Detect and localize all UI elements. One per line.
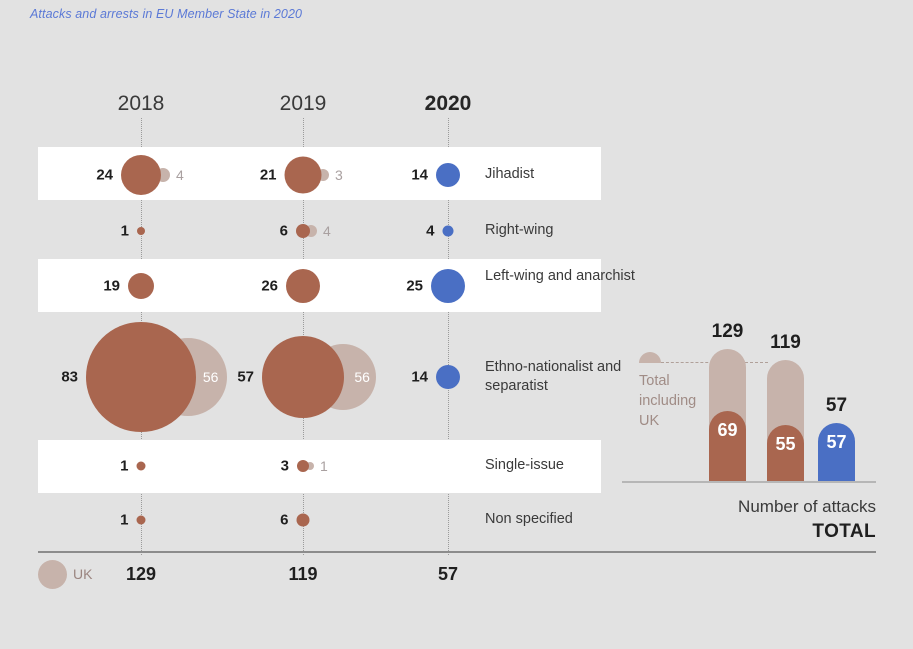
value-label-right-wing-2019: 6 — [280, 223, 288, 240]
bubble-jihadist-2019 — [285, 157, 322, 194]
bubble-single-issue-2018 — [137, 462, 146, 471]
bar-total-label-2019: 119 — [770, 332, 801, 354]
bubble-jihadist-2018 — [121, 155, 161, 195]
value-label-ethno-nationalist-2020: 14 — [411, 369, 428, 386]
category-label-non: Non specified — [485, 510, 665, 529]
bubble-single-issue-2019 — [297, 460, 309, 472]
bubble-non-2019 — [297, 514, 310, 527]
page-title: Attacks and arrests in EU Member State i… — [30, 7, 302, 21]
total-2020: 57 — [438, 564, 458, 585]
bar-chart-baseline — [622, 481, 876, 483]
value-label-single-issue-2019: 3 — [281, 458, 289, 475]
value-label-jihadist-2019: 21 — [260, 167, 277, 184]
year-header-2018: 2018 — [118, 92, 165, 116]
value-label-ethno-nationalist-2019: 57 — [237, 369, 254, 386]
uk-value-label-ethno-nationalist-2019: 56 — [354, 369, 370, 385]
bubble-left-wing-2019 — [286, 269, 320, 303]
value-label-non-2019: 6 — [280, 512, 288, 529]
bar-chart-caption-line2: TOTAL — [812, 521, 876, 543]
bubble-ethno-nationalist-2020 — [436, 365, 460, 389]
value-label-right-wing-2020: 4 — [426, 223, 434, 240]
uk-value-label-single-issue-2019: 1 — [320, 458, 328, 474]
infographic-canvas: Attacks and arrests in EU Member State i… — [0, 0, 913, 649]
uk-value-label-ethno-nationalist-2018: 56 — [203, 369, 219, 385]
totals-divider — [38, 551, 876, 553]
bubble-ethno-nationalist-2018 — [86, 322, 196, 432]
year-header-2019: 2019 — [280, 92, 327, 116]
bubble-left-wing-2020 — [431, 269, 465, 303]
bar-eu-label-2020: 57 — [826, 432, 846, 453]
bubble-non-2018 — [137, 516, 146, 525]
uk-legend-dot-icon — [38, 560, 67, 589]
bubble-right-wing-2019 — [296, 224, 310, 238]
category-label-left-wing: Left-wing and anarchist — [485, 267, 665, 286]
bar-total-label-2018: 129 — [712, 321, 744, 343]
category-label-single-issue: Single-issue — [485, 456, 665, 475]
total-2019: 119 — [288, 564, 317, 585]
total-2018: 129 — [126, 564, 156, 585]
category-label-ethno-nationalist: Ethno-nationalist and separatist — [485, 358, 665, 396]
uk-value-label-jihadist-2019: 3 — [335, 167, 343, 183]
total-including-uk-label: Total including UK — [639, 371, 709, 431]
uk-value-label-right-wing-2019: 4 — [323, 223, 331, 239]
bar-total-label-2020: 57 — [826, 395, 847, 417]
bar-eu-label-2019: 55 — [775, 434, 795, 455]
value-label-jihadist-2018: 24 — [96, 167, 113, 184]
value-label-non-2018: 1 — [120, 512, 128, 529]
value-label-single-issue-2018: 1 — [120, 458, 128, 475]
uk-legend-label: UK — [73, 566, 92, 582]
category-label-right-wing: Right-wing — [485, 221, 665, 240]
value-label-ethno-nationalist-2018: 83 — [61, 369, 78, 386]
total-including-uk-leader-line-2 — [745, 362, 768, 363]
bar-chart-caption-line1: Number of attacks — [738, 497, 876, 517]
value-label-left-wing-2020: 25 — [406, 278, 423, 295]
value-label-left-wing-2018: 19 — [103, 278, 120, 295]
year-header-2020: 2020 — [425, 92, 472, 116]
bubble-right-wing-2020 — [443, 226, 454, 237]
bubble-jihadist-2020 — [436, 163, 460, 187]
bubble-ethno-nationalist-2019 — [262, 336, 344, 418]
value-label-jihadist-2020: 14 — [411, 167, 428, 184]
bubble-left-wing-2018 — [128, 273, 154, 299]
value-label-right-wing-2018: 1 — [121, 223, 129, 240]
value-label-left-wing-2019: 26 — [261, 278, 278, 295]
total-including-uk-marker-icon — [639, 352, 661, 363]
bar-eu-label-2018: 69 — [717, 420, 737, 441]
uk-value-label-jihadist-2018: 4 — [176, 167, 184, 183]
category-label-jihadist: Jihadist — [485, 165, 665, 184]
bubble-right-wing-2018 — [137, 227, 145, 235]
